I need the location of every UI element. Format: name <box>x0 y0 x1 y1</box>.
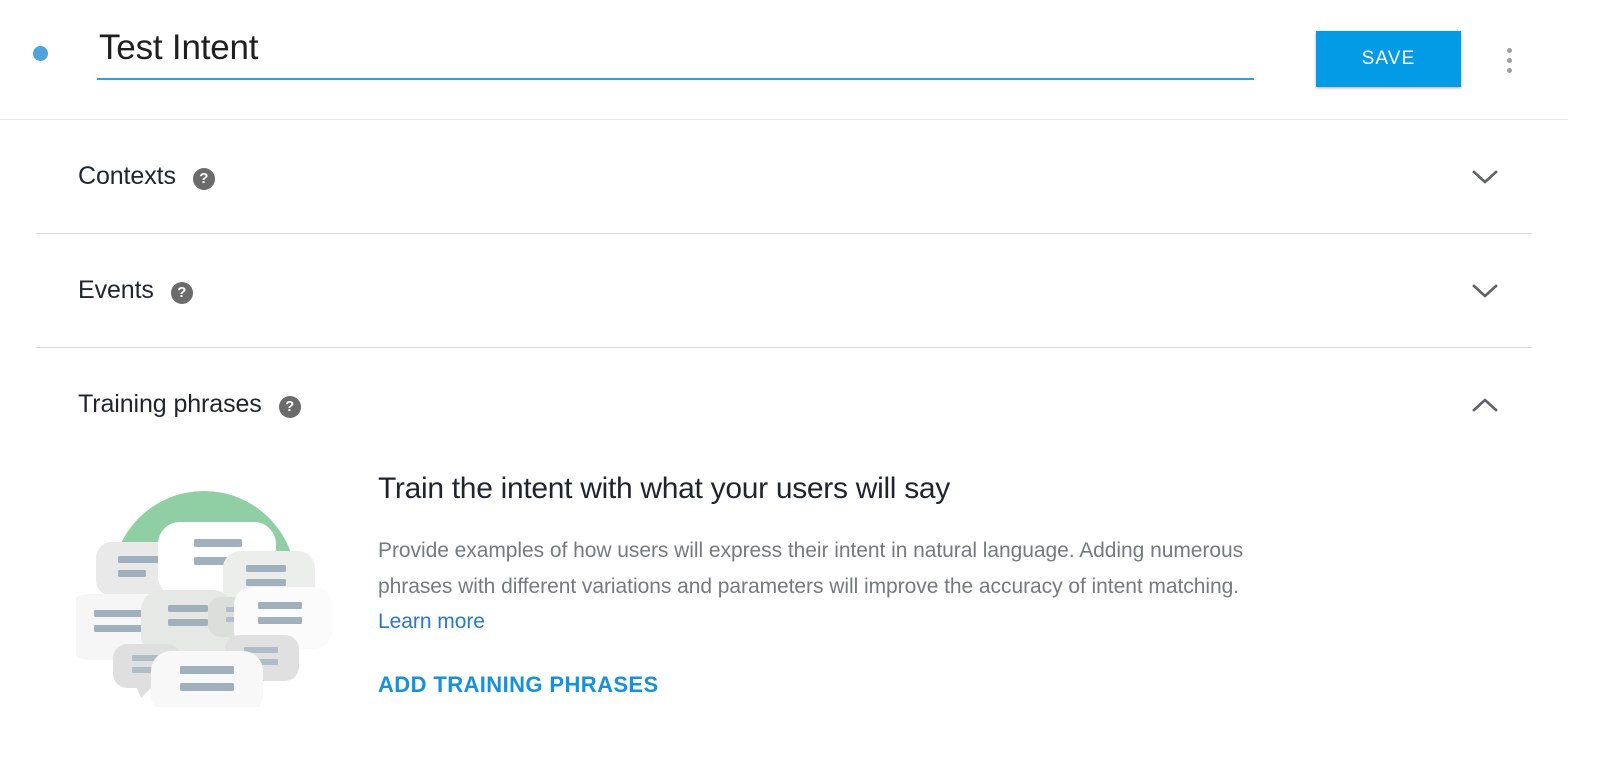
learn-more-link[interactable]: Learn more <box>378 610 485 633</box>
intent-name-input[interactable] <box>97 26 1254 80</box>
kebab-dot-1 <box>1507 48 1512 53</box>
training-phrases-heading: Train the intent with what your users wi… <box>378 469 1278 509</box>
save-button[interactable]: SAVE <box>1316 31 1461 87</box>
chevron-down-icon-events[interactable] <box>1472 283 1498 299</box>
help-icon-events[interactable]: ? <box>171 282 193 304</box>
speech-bubbles-illustration <box>76 467 336 707</box>
section-header-training-phrases[interactable]: Training phrases ? <box>0 348 1568 461</box>
training-phrases-copy: Train the intent with what your users wi… <box>378 461 1278 707</box>
intent-status-dot <box>33 46 48 61</box>
editor-header: SAVE <box>0 0 1568 120</box>
section-contexts: Contexts ? <box>0 120 1568 234</box>
accordion-sections: Contexts ? Events ? <box>0 120 1568 747</box>
help-icon-training-phrases[interactable]: ? <box>279 396 301 418</box>
kebab-dot-2 <box>1507 58 1512 63</box>
chevron-up-icon-training-phrases[interactable] <box>1472 397 1498 413</box>
intent-name-field-wrapper <box>97 26 1254 80</box>
section-training-phrases: Training phrases ? <box>0 348 1568 747</box>
intent-editor-page: SAVE Contexts ? Events <box>0 0 1600 771</box>
kebab-dot-3 <box>1507 68 1512 73</box>
chevron-down-icon-contexts[interactable] <box>1472 169 1498 185</box>
section-title-events: Events <box>78 276 154 305</box>
kebab-menu-icon[interactable] <box>1498 40 1520 80</box>
description-text: Provide examples of how users will expre… <box>378 539 1243 598</box>
section-title-contexts: Contexts <box>78 162 176 191</box>
section-title-training-phrases: Training phrases <box>78 390 262 419</box>
section-header-events[interactable]: Events ? <box>0 234 1568 347</box>
add-training-phrases-button[interactable]: ADD TRAINING PHRASES <box>378 672 659 698</box>
training-phrases-description: Provide examples of how users will expre… <box>378 533 1258 640</box>
section-events: Events ? <box>0 234 1568 348</box>
help-icon-contexts[interactable]: ? <box>193 168 215 190</box>
section-header-contexts[interactable]: Contexts ? <box>0 120 1568 233</box>
training-phrases-empty-state: Train the intent with what your users wi… <box>0 461 1568 747</box>
